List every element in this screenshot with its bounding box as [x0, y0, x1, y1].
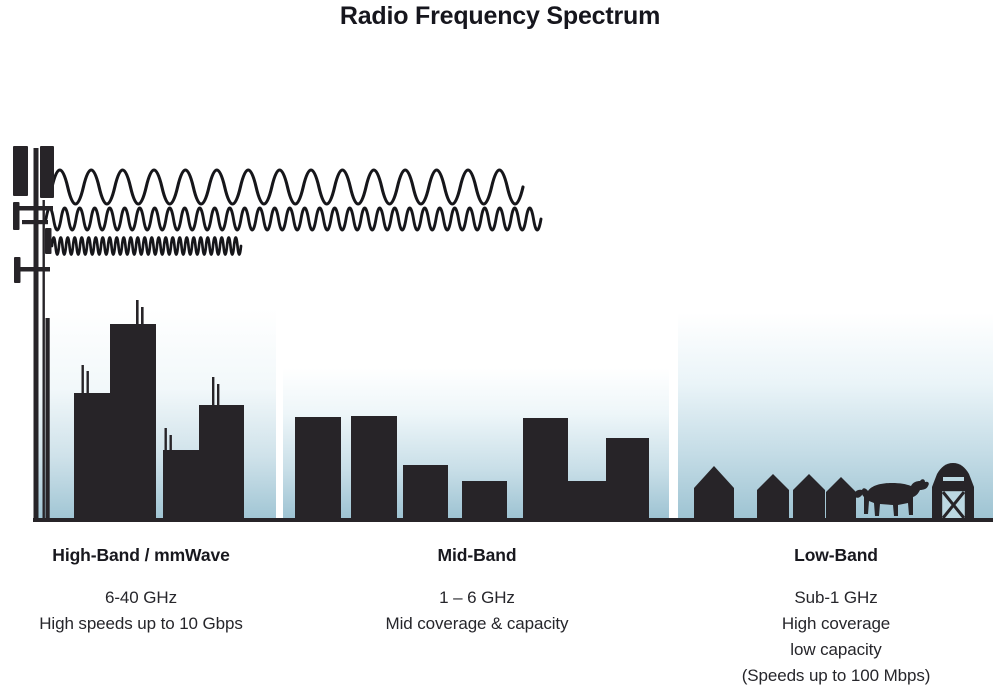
skyscraper	[163, 450, 201, 520]
building-spire	[136, 300, 139, 324]
band-frequency-high-band: 6-40 GHz	[0, 585, 282, 611]
building-spire	[170, 435, 172, 450]
band-frequency-mid-band: 1 – 6 GHz	[282, 585, 672, 611]
skyscraper	[74, 393, 111, 520]
barn-window	[943, 477, 964, 481]
mid-rise-building	[606, 438, 649, 520]
skyscraper	[199, 405, 244, 520]
skyscraper	[110, 324, 156, 520]
building-spire	[217, 384, 219, 405]
antenna-panel-bottom	[14, 257, 21, 283]
band-description-low-band-2: (Speeds up to 100 Mbps)	[672, 663, 1000, 689]
band-description-high-band-0: High speeds up to 10 Gbps	[0, 611, 282, 637]
band-description-mid-band-0: Mid coverage & capacity	[282, 611, 672, 637]
band-title-mid-band: Mid-Band	[282, 545, 672, 565]
medium-wavelength-wave	[46, 208, 541, 230]
band-column-low-band: Low-Band Sub-1 GHz High coverage low cap…	[672, 545, 1000, 700]
tower-mast-main	[34, 148, 39, 520]
band-column-mid-band: Mid-Band 1 – 6 GHz Mid coverage & capaci…	[282, 545, 672, 700]
mid-rise-building	[462, 481, 507, 520]
tower-crossbar-upper-2	[22, 220, 48, 224]
ground-line	[33, 518, 993, 522]
band-title-high-band: High-Band / mmWave	[0, 545, 282, 565]
cell-tower	[13, 146, 54, 520]
mid-rise-building	[403, 465, 448, 520]
building-spire	[212, 377, 214, 405]
band-title-low-band: Low-Band	[672, 545, 1000, 565]
mid-rise-building	[351, 416, 397, 520]
band-label-row: High-Band / mmWave 6-40 GHz High speeds …	[0, 545, 1000, 700]
long-wavelength-wave	[52, 170, 523, 204]
building-spire	[82, 365, 84, 393]
antenna-panel-right	[40, 146, 54, 198]
infographic-canvas: Radio Frequency Spectrum	[0, 0, 1000, 700]
short-wavelength-wave	[52, 238, 241, 255]
building-spire	[165, 428, 167, 450]
antenna-panel-mid-left	[13, 202, 20, 230]
band-frequency-low-band: Sub-1 GHz	[672, 585, 1000, 611]
mid-rise-building	[295, 417, 341, 520]
antenna-panel-mid-right	[45, 228, 52, 254]
radio-waves	[46, 170, 541, 255]
tower-mast-secondary	[43, 200, 45, 520]
mid-rise-building	[568, 481, 606, 520]
antenna-panel-left	[13, 146, 28, 196]
band-description-low-band-0: High coverage	[672, 611, 1000, 637]
band-description-low-band-1: low capacity	[672, 637, 1000, 663]
tower-mast-tertiary	[46, 318, 50, 520]
mid-rise-building	[523, 418, 568, 520]
building-spire	[141, 307, 144, 324]
band-column-high-band: High-Band / mmWave 6-40 GHz High speeds …	[0, 545, 282, 700]
building-spire	[87, 371, 89, 393]
